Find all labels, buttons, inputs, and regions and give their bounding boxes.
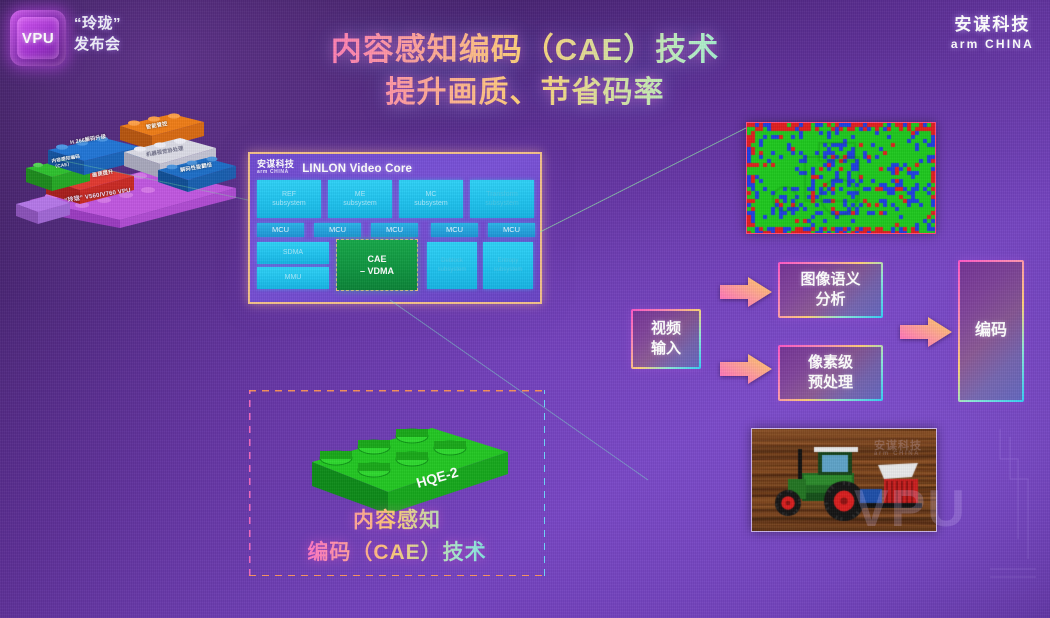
slide-canvas: VPU “玲珑” 发布会 安谋科技 arm CHINA 内容感知编码（CAE）技… [0,0,1050,618]
event-title: “玲珑” 发布会 [74,13,121,56]
chip-label: VPU [10,10,66,66]
subsystem-block-transform: Transform subsystem [470,180,534,218]
caption-line2: 编码（CAE）技术 [249,537,545,569]
mcu-block-3: MCU [371,223,418,237]
hqe2-lego-brick: HQE-2 [300,410,520,515]
background-watermark: 安谋科技 arm CHINA VPU [850,419,1040,584]
sdma-block: SDMA [257,242,329,264]
watermark-circuit [850,419,1040,584]
event-title-line1: “玲珑” [74,13,121,34]
mcu-block-1: MCU [257,223,304,237]
subsystem-block-ref: REF subsystem [257,180,321,218]
subsystem-block-me: ME subsystem [328,180,392,218]
entropy-subsystem-block: Entropy subsystem [483,242,533,289]
brand-cn: 安谋科技 [951,16,1034,35]
title-line1: 内容感知编码（CAE）技术 [0,28,1050,72]
mcu-block-4: MCU [431,223,478,237]
mcu-block-5: MCU [488,223,535,237]
linlon-core-name: LINLON Video Core [302,163,412,175]
linlon-brand-en: arm CHINA [257,170,294,175]
arm-china-logo: 安谋科技 arm CHINA [951,16,1034,51]
flow-box-encode[interactable]: 编码 [958,260,1024,402]
arrow-input-to-semantic [718,275,774,309]
flow-box-pixel-preprocess[interactable]: 像素级 预处理 [778,345,883,401]
flow-box-semantic-analysis[interactable]: 图像语义 分析 [778,262,883,318]
linlon-brand: 安谋科技 arm CHINA [257,160,294,175]
vpu-chip-logo: VPU [10,10,66,66]
cae-highlight-frame: CAE – VDMA [336,239,418,291]
deblock-subsystem-block: Deblock subsystem [427,242,477,289]
cae-region-caption: 内容感知 编码（CAE）技术 [249,505,545,568]
linlon-brand-cn: 安谋科技 [257,160,294,169]
page-title: 内容感知编码（CAE）技术 提升画质、节省码率 [0,28,1050,115]
event-title-line2: 发布会 [74,34,121,55]
mmu-block: MMU [257,267,329,289]
arrow-input-to-pixel [718,352,774,386]
flow-box-video-input[interactable]: 视频 输入 [631,309,701,369]
subsystem-block-mc: MC subsystem [399,180,463,218]
linlon-video-core-diagram: 安谋科技 arm CHINA LINLON Video Core REF sub… [248,152,542,304]
arrow-to-encode [898,315,954,349]
linlon-header: 安谋科技 arm CHINA LINLON Video Core [257,160,412,175]
mcu-block-2: MCU [314,223,361,237]
caption-line1: 内容感知 [249,505,545,537]
segmentation-canvas [747,123,935,233]
lego-stack-graphic: H.266解码升级 内容感知编码 （CAE） 画质提升 智能管控 机器视觉协处理… [8,108,238,228]
segmentation-map-image [746,122,936,234]
brand-en: arm CHINA [951,37,1034,51]
cae-vdma-block: CAE – VDMA [337,240,417,290]
